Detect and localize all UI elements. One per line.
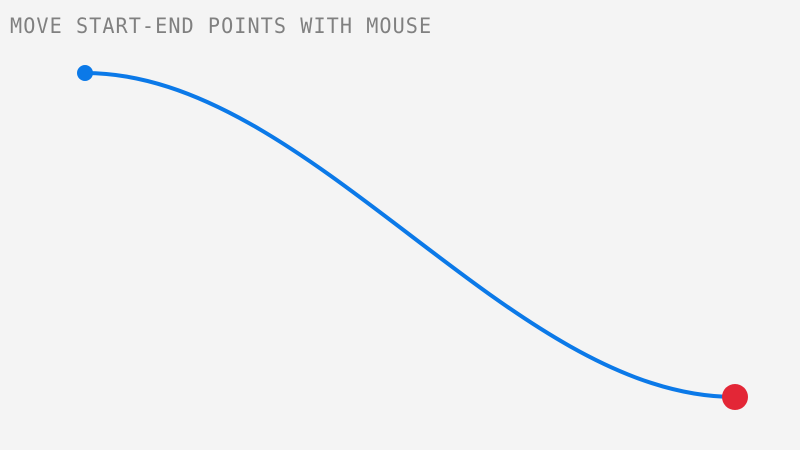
start-point-hit-area[interactable] <box>73 61 97 85</box>
bezier-canvas[interactable]: MOVE START-END POINTS WITH MOUSE <box>0 0 800 450</box>
bezier-curve-stage <box>0 0 800 450</box>
page-title: MOVE START-END POINTS WITH MOUSE <box>10 13 432 39</box>
bezier-curve-path <box>85 73 735 397</box>
end-point-hit-area[interactable] <box>718 380 752 414</box>
